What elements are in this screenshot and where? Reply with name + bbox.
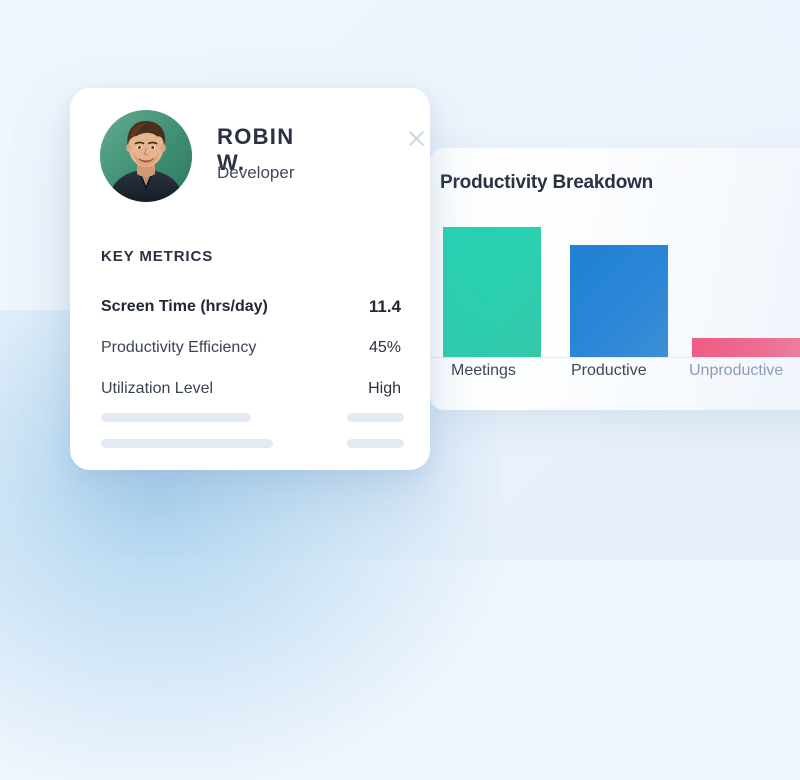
productivity-chart-panel: Productivity Breakdown Meetings Producti… — [430, 148, 800, 410]
placeholder-row — [101, 413, 404, 439]
x-tick-label-productive: Productive — [571, 362, 647, 380]
key-metrics-list: Screen Time (hrs/day) 11.4 Productivity … — [101, 286, 401, 409]
placeholder-bar-label — [101, 439, 273, 448]
bar-meetings[interactable] — [443, 227, 541, 357]
key-metrics-heading: KEY METRICS — [101, 248, 213, 265]
avatar — [100, 110, 192, 202]
bar-chart-plot-area — [430, 218, 800, 358]
metric-row: Productivity Efficiency 45% — [101, 327, 401, 368]
bar-productive[interactable] — [570, 245, 668, 357]
metric-value: 11.4 — [369, 297, 401, 317]
close-icon[interactable] — [403, 125, 429, 151]
metric-label: Productivity Efficiency — [101, 339, 256, 357]
x-tick-label-unproductive: Unproductive — [689, 362, 783, 380]
x-tick-label-meetings: Meetings — [451, 362, 516, 380]
profile-card: ROBIN W. Developer KEY METRICS Screen Ti… — [70, 88, 430, 470]
chart-axis-line — [430, 357, 800, 358]
loading-placeholder-group — [101, 413, 404, 465]
metric-value: 45% — [369, 339, 401, 357]
metric-label: Utilization Level — [101, 380, 213, 398]
metric-value: High — [368, 380, 401, 398]
chart-x-axis-labels: Meetings Productive Unproductive — [430, 362, 800, 392]
metric-label: Screen Time (hrs/day) — [101, 298, 268, 316]
metric-row: Utilization Level High — [101, 368, 401, 409]
metric-row: Screen Time (hrs/day) 11.4 — [101, 286, 401, 327]
profile-role: Developer — [217, 163, 295, 183]
placeholder-bar-value — [347, 413, 404, 422]
placeholder-row — [101, 439, 404, 465]
placeholder-bar-value — [347, 439, 404, 448]
chart-title: Productivity Breakdown — [440, 172, 653, 194]
placeholder-bar-label — [101, 413, 251, 422]
bar-unproductive[interactable] — [692, 338, 800, 357]
